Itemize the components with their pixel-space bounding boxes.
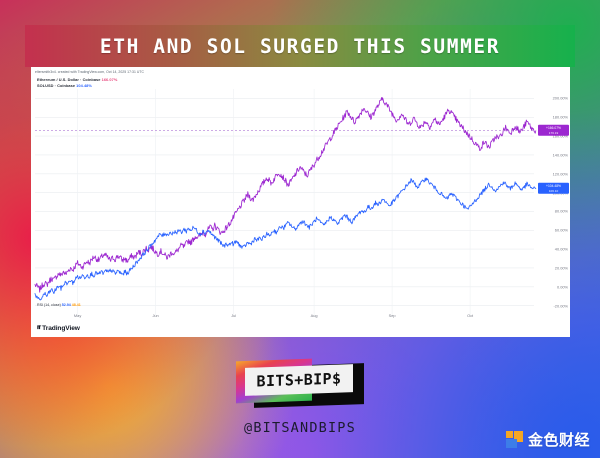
- bitsandbips-logo-badge: BITS+BIP$: [236, 358, 364, 406]
- jinse-logo-icon: [506, 431, 523, 448]
- header-banner: ETH AND SOL SURGED THIS SUMMER: [25, 25, 575, 67]
- price-axis-label: 40.00%: [555, 247, 568, 252]
- tradingview-mark-icon: 𝐫𝐫: [37, 324, 40, 332]
- time-axis-label: Aug: [311, 313, 318, 318]
- tradingview-logo[interactable]: 𝐫𝐫 TradingView: [37, 324, 80, 332]
- price-axis[interactable]: 200.00%180.00%160.00%140.00%120.00%100.0…: [534, 89, 570, 315]
- rsi-indicator-label[interactable]: RSI (14, close) 52.94 48.41: [37, 303, 81, 307]
- time-axis-label: Jun: [152, 313, 158, 318]
- time-axis-label: Jul: [231, 313, 236, 318]
- jinse-watermark-label: 金色财经: [528, 429, 590, 450]
- page-title: ETH AND SOL SURGED THIS SUMMER: [100, 35, 500, 58]
- chart-meta-text: eltersmith3x4. created with TradingView.…: [35, 70, 144, 74]
- legend-change-sol: 104.48%: [76, 83, 92, 88]
- price-axis-label: 60.00%: [555, 228, 568, 233]
- price-axis-label: 0.00%: [557, 284, 568, 289]
- price-tag-eth[interactable]: +104.48%106.10: [538, 183, 569, 193]
- rsi-label: RSI (14, close): [37, 303, 61, 307]
- chart-plot-area[interactable]: [31, 89, 570, 315]
- chart-card: eltersmith3x4. created with TradingView.…: [31, 67, 570, 337]
- price-axis-label: 120.00%: [553, 171, 568, 176]
- price-chart-svg: [31, 89, 570, 315]
- price-axis-label: -20.00%: [554, 303, 569, 308]
- price-axis-label: 200.00%: [553, 96, 568, 101]
- legend-item-sol[interactable]: SOLUSD · Coinbase 104.48%: [37, 83, 117, 89]
- time-axis-label: Oct: [467, 313, 473, 318]
- legend-symbol-eth: Ethereum / U.S. Dollar · Coinbase: [37, 77, 100, 82]
- time-axis-label: May: [74, 313, 81, 318]
- time-axis[interactable]: MayJunJulAugSepOct: [31, 313, 534, 323]
- rsi-value-1: 52.94: [62, 303, 71, 307]
- time-axis-label: Sep: [389, 313, 396, 318]
- poster-root: ETH AND SOL SURGED THIS SUMMER eltersmit…: [0, 0, 600, 458]
- legend-change-eth: 166.07%: [102, 77, 118, 82]
- chart-legend: Ethereum / U.S. Dollar · Coinbase 166.07…: [37, 77, 117, 88]
- badge-plate: BITS+BIP$: [245, 364, 353, 396]
- price-axis-label: 180.00%: [553, 115, 568, 120]
- price-axis-label: 20.00%: [555, 265, 568, 270]
- rsi-value-2: 48.41: [72, 303, 81, 307]
- price-tag-sol[interactable]: +166.07%176.19: [538, 125, 569, 135]
- price-axis-label: 80.00%: [555, 209, 568, 214]
- legend-symbol-sol: SOLUSD · Coinbase: [37, 83, 75, 88]
- jinse-watermark: 金色财经: [506, 429, 590, 450]
- tradingview-brand-label: TradingView: [42, 325, 80, 332]
- price-axis-label: 140.00%: [553, 152, 568, 157]
- badge-logo-text: BITS+BIP$: [257, 370, 342, 391]
